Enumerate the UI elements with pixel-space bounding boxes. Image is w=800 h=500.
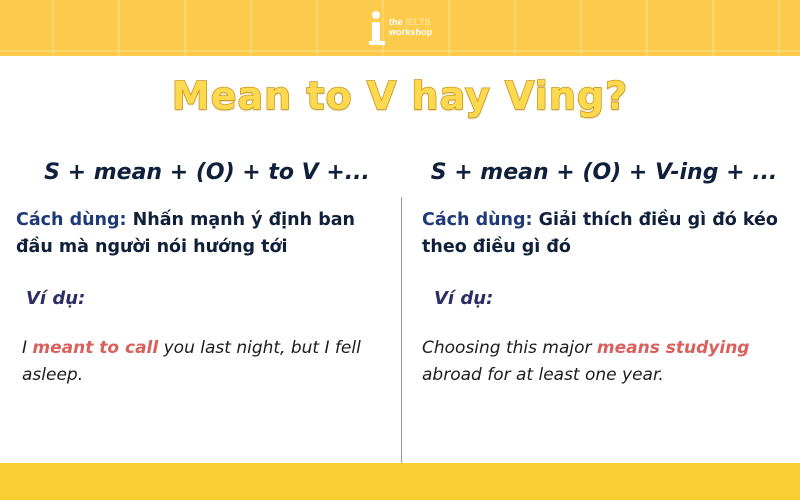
logo-workshop-word: workshop (389, 28, 432, 38)
example-sentence-ving: Choosing this major means studying abroa… (414, 335, 800, 388)
column-divider (401, 197, 402, 480)
column-ving: S + mean + (O) + V-ing + ... Cách dùng: … (414, 160, 800, 388)
logo-the-word: the (389, 17, 405, 27)
example-highlight-to-v: meant to call (32, 338, 158, 358)
usage-to-v: Cách dùng: Nhấn mạnh ý định ban đầu mà n… (8, 207, 400, 260)
example-text-before-to-v: I (22, 338, 32, 358)
logo-ielts-word: IELTS (405, 17, 430, 27)
example-text-after-ving: abroad for at least one year. (422, 365, 664, 385)
formula-ving: S + mean + (O) + V-ing + ... (414, 160, 800, 185)
logo-i-dot (372, 11, 380, 19)
brand-logo: the IELTS workshop (369, 8, 449, 48)
logo-text: the IELTS workshop (389, 18, 432, 37)
usage-label-to-v: Cách dùng: (16, 210, 127, 230)
logo-i-icon (369, 11, 385, 45)
usage-label-ving: Cách dùng: (422, 210, 533, 230)
formula-to-v: S + mean + (O) + to V +... (8, 160, 400, 185)
top-banner: the IELTS workshop (0, 0, 800, 56)
column-to-v: S + mean + (O) + to V +... Cách dùng: Nh… (8, 160, 400, 388)
example-sentence-to-v: I meant to call you last night, but I fe… (8, 335, 400, 388)
logo-i-foot (369, 41, 385, 45)
example-highlight-ving: means studying (597, 338, 750, 358)
example-label-to-v: Ví dụ: (8, 288, 400, 309)
example-text-before-ving: Choosing this major (422, 338, 597, 358)
comparison-columns: S + mean + (O) + to V +... Cách dùng: Nh… (0, 160, 800, 445)
page-title: Mean to V hay Ving? (0, 74, 800, 118)
example-label-ving: Ví dụ: (414, 288, 800, 309)
bottom-bar (0, 463, 800, 500)
usage-ving: Cách dùng: Giải thích điều gì đó kéo the… (414, 207, 800, 260)
